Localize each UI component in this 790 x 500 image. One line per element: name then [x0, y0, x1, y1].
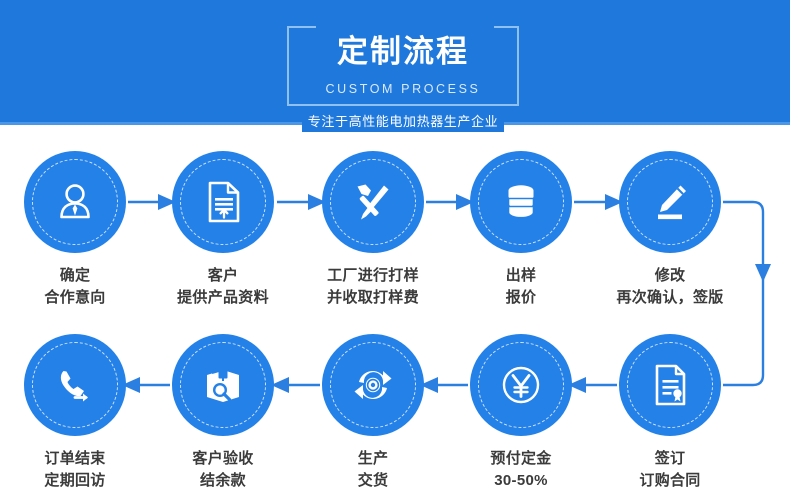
step-label-line1: 修改 — [655, 267, 686, 284]
step-label-line2: 报价 — [465, 287, 577, 309]
step-circle[interactable] — [470, 334, 572, 436]
flow-step-4[interactable]: 出样 报价 — [465, 151, 577, 309]
company-tagline: 专注于高性能电加热器生产企业 — [302, 112, 504, 132]
flow-step-8[interactable]: 生产 交货 — [317, 334, 429, 492]
step-label-line1: 预付定金 — [490, 450, 551, 467]
step-label: 预付定金 30-50% — [465, 448, 577, 492]
step-label-line2: 交货 — [317, 470, 429, 492]
step-label-line2: 并收取打样费 — [317, 287, 429, 309]
step-circle[interactable] — [172, 151, 274, 253]
process-flow-diagram: 确定 合作意向 客户 提供产品资料 — [0, 125, 790, 500]
page-title: 定制流程 — [289, 34, 517, 70]
page-header: 定制流程 CUSTOM PROCESS 专注于高性能电加热器生产企业 — [0, 0, 790, 125]
step-label-line2: 定期回访 — [19, 470, 131, 492]
step-label-line2: 提供产品资料 — [167, 287, 279, 309]
flow-step-6[interactable]: 签订 订购合同 — [614, 334, 726, 492]
step-label: 签订 订购合同 — [614, 448, 726, 492]
user-person-icon — [24, 151, 126, 253]
step-label: 生产 交货 — [317, 448, 429, 492]
yuan-currency-icon — [470, 334, 572, 436]
step-label: 确定 合作意向 — [19, 265, 131, 309]
step-circle[interactable] — [322, 334, 424, 436]
step-label: 出样 报价 — [465, 265, 577, 309]
step-circle[interactable] — [619, 334, 721, 436]
flow-step-2[interactable]: 客户 提供产品资料 — [167, 151, 279, 309]
step-label-line2: 30-50% — [465, 470, 577, 492]
step-label: 订单结束 定期回访 — [19, 448, 131, 492]
step-label-line1: 确定 — [60, 267, 91, 284]
flow-step-1[interactable]: 确定 合作意向 — [19, 151, 131, 309]
step-circle[interactable] — [172, 334, 274, 436]
tagline-wrap: 专注于高性能电加热器生产企业 — [289, 112, 517, 132]
step-label: 客户 提供产品资料 — [167, 265, 279, 309]
step-label-line1: 客户验收 — [192, 450, 253, 467]
step-circle[interactable] — [470, 151, 572, 253]
document-upload-icon — [172, 151, 274, 253]
flow-step-5[interactable]: 修改 再次确认，签版 — [614, 151, 726, 309]
step-label-line1: 客户 — [208, 267, 239, 284]
step-circle[interactable] — [24, 334, 126, 436]
step-label-line2: 合作意向 — [19, 287, 131, 309]
page-subtitle: CUSTOM PROCESS — [289, 81, 517, 97]
step-label-line2: 再次确认，签版 — [614, 287, 726, 309]
step-label-line1: 签订 — [655, 450, 686, 467]
database-stack-icon — [470, 151, 572, 253]
pencil-edit-icon — [619, 151, 721, 253]
step-label-line1: 生产 — [358, 450, 389, 467]
step-label-line1: 出样 — [506, 267, 537, 284]
flow-step-7[interactable]: 预付定金 30-50% — [465, 334, 577, 492]
flow-step-9[interactable]: 客户验收 结余款 — [167, 334, 279, 492]
flow-step-3[interactable]: 工厂进行打样 并收取打样费 — [317, 151, 429, 309]
step-label: 客户验收 结余款 — [167, 448, 279, 492]
hammer-wrench-tools-icon — [322, 151, 424, 253]
box-inspect-search-icon — [172, 334, 274, 436]
step-circle[interactable] — [619, 151, 721, 253]
step-label: 工厂进行打样 并收取打样费 — [317, 265, 429, 309]
step-circle[interactable] — [24, 151, 126, 253]
recycle-gear-icon — [322, 334, 424, 436]
step-label: 修改 再次确认，签版 — [614, 265, 726, 309]
contract-document-icon — [619, 334, 721, 436]
step-label-line2: 结余款 — [167, 470, 279, 492]
phone-callback-icon — [24, 334, 126, 436]
step-circle[interactable] — [322, 151, 424, 253]
step-label-line1: 工厂进行打样 — [327, 267, 419, 284]
step-label-line2: 订购合同 — [614, 470, 726, 492]
title-frame: 定制流程 CUSTOM PROCESS 专注于高性能电加热器生产企业 — [287, 26, 519, 106]
flow-step-10[interactable]: 订单结束 定期回访 — [19, 334, 131, 492]
step-label-line1: 订单结束 — [44, 450, 105, 467]
